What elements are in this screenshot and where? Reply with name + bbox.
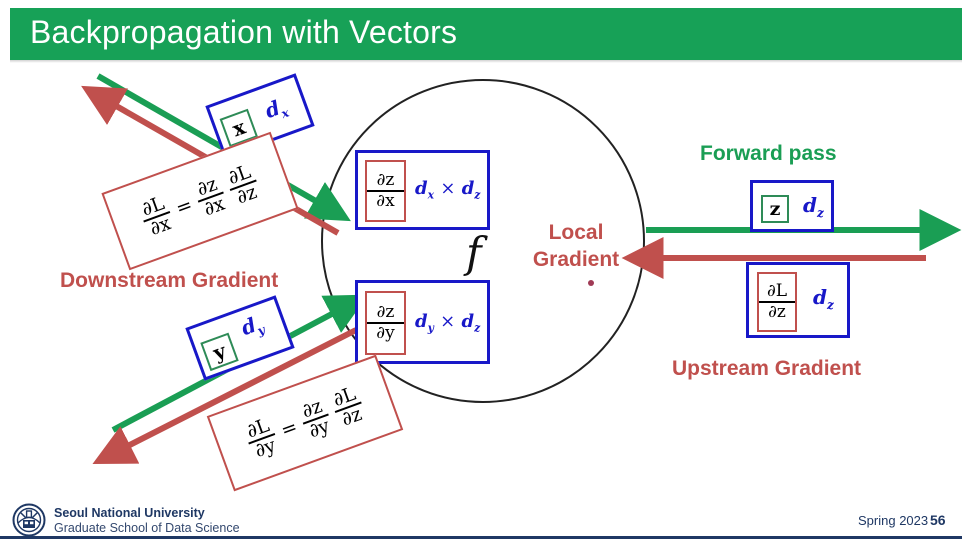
input-box-y-var: y bbox=[200, 333, 238, 371]
local-gradient-box-x: ∂z ∂x dx × dz bbox=[355, 150, 490, 230]
equation-x-rhs2-den: ∂z bbox=[231, 182, 262, 209]
output-box-z-dim: dz bbox=[803, 193, 824, 220]
lgx-term-b: d bbox=[462, 178, 475, 199]
label-forward-pass: Forward pass bbox=[700, 142, 837, 166]
output-box-z-dim-sub: z bbox=[817, 206, 824, 220]
footer-term: Spring 2023 bbox=[858, 513, 928, 528]
local-gradient-x-fraction: ∂z ∂x bbox=[365, 160, 406, 222]
local-gradient-box-y: ∂z ∂y dy × dz bbox=[355, 280, 490, 364]
upstream-gradient-numerator: ∂L bbox=[763, 282, 791, 301]
function-symbol: f bbox=[466, 228, 482, 277]
equation-y-equals: = bbox=[278, 416, 300, 442]
output-box-z: z dz bbox=[750, 180, 834, 232]
upstream-gradient-fraction: ∂L ∂z bbox=[757, 272, 797, 332]
lgx-operator: × bbox=[440, 178, 455, 199]
lgy-term-b-sub: z bbox=[474, 322, 480, 335]
equation-y-rhs1-den: ∂y bbox=[304, 415, 336, 442]
local-gradient-x-numerator: ∂z bbox=[373, 171, 399, 190]
equation-x-lhs-den: ∂x bbox=[145, 213, 177, 240]
input-box-y-dim: dy bbox=[238, 310, 267, 343]
lgy-term-a: d bbox=[415, 311, 428, 332]
label-downstream-gradient: Downstream Gradient bbox=[60, 269, 278, 293]
lgy-operator: × bbox=[440, 311, 455, 332]
local-gradient-x-expression: dx × dz bbox=[415, 178, 480, 202]
upstream-gradient-denominator: ∂z bbox=[764, 303, 790, 322]
local-gradient-y-expression: dy × dz bbox=[415, 311, 480, 335]
snu-seal-logo bbox=[12, 503, 46, 537]
label-local-gradient-line2: Gradient bbox=[527, 246, 625, 273]
output-box-z-dim-sym: d bbox=[803, 193, 817, 217]
local-gradient-y-fraction: ∂z ∂y bbox=[365, 291, 406, 355]
lgx-term-b-sub: z bbox=[474, 189, 480, 202]
local-gradient-x-denominator: ∂x bbox=[372, 192, 398, 211]
local-gradient-y-denominator: ∂y bbox=[372, 324, 398, 343]
label-upstream-gradient: Upstream Gradient bbox=[672, 357, 861, 381]
lgy-term-b: d bbox=[462, 311, 475, 332]
equation-y-lhs: ∂L ∂y bbox=[241, 415, 282, 463]
equation-y-rhs1: ∂z ∂y bbox=[296, 395, 335, 442]
upstream-gradient-dim-sub: z bbox=[827, 298, 834, 312]
equation-x-rhs1: ∂z ∂x bbox=[191, 173, 230, 220]
equation-y-rhs2-den: ∂z bbox=[336, 404, 367, 431]
equation-y-lhs-den: ∂y bbox=[250, 435, 282, 462]
footer-org-dept: Graduate School of Data Science bbox=[54, 521, 240, 535]
equation-x-equals: = bbox=[173, 194, 195, 220]
local-gradient-dot bbox=[588, 280, 594, 286]
equation-y-rhs2: ∂L ∂z bbox=[328, 383, 369, 431]
equation-x-rhs1-den: ∂x bbox=[199, 193, 231, 220]
upstream-gradient-dim: dz bbox=[813, 285, 834, 312]
footer-page-number: 56 bbox=[930, 512, 946, 528]
local-gradient-y-numerator: ∂z bbox=[373, 303, 399, 322]
lgy-term-a-sub: y bbox=[428, 322, 434, 335]
lgx-term-a-sub: x bbox=[428, 189, 434, 202]
slide-canvas: Backpropagation with Vectors f Forwar bbox=[0, 0, 962, 543]
lgx-term-a: d bbox=[415, 178, 428, 199]
label-local-gradient-line1: Local bbox=[527, 219, 625, 246]
equation-x-rhs2: ∂L ∂z bbox=[223, 161, 264, 209]
upstream-gradient-dim-sym: d bbox=[813, 285, 827, 309]
footer-divider bbox=[0, 536, 962, 539]
equation-x-lhs: ∂L ∂x bbox=[136, 193, 177, 241]
upstream-gradient-box: ∂L ∂z dz bbox=[746, 262, 850, 338]
label-local-gradient: Local Gradient bbox=[527, 219, 625, 273]
input-box-x-dim: dx bbox=[262, 93, 291, 126]
footer-org-name: Seoul National University bbox=[54, 506, 205, 520]
output-box-z-var: z bbox=[761, 195, 789, 223]
